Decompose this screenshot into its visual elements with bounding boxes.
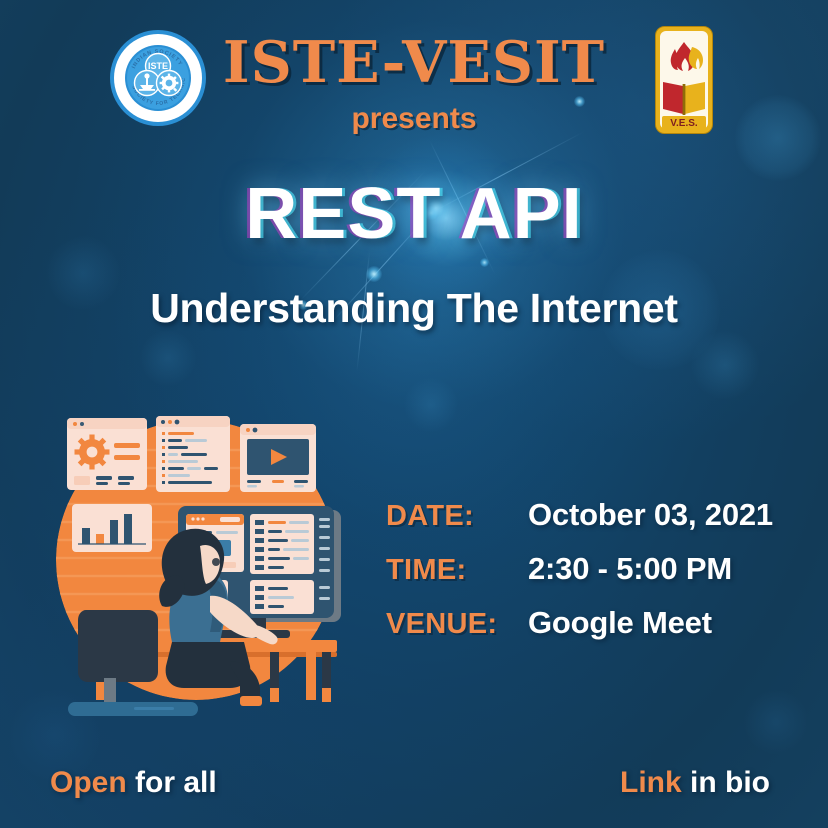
code-list-card — [156, 416, 230, 492]
hero-subtitle: Understanding The Internet — [0, 285, 828, 332]
bokeh-circle — [140, 330, 196, 386]
footer-open-highlight: Open — [50, 766, 127, 799]
network-node — [480, 258, 489, 267]
footer-link-in-bio: Link in bio — [620, 766, 770, 800]
footer-open-rest: for all — [127, 766, 217, 799]
detail-value-time: 2:30 - 5:00 PM — [528, 551, 773, 587]
footer-open-for-all: Open for all — [50, 766, 217, 800]
detail-value-venue: Google Meet — [528, 605, 773, 641]
bokeh-circle — [404, 378, 458, 432]
brand-title: ISTE-VESIT — [0, 34, 828, 91]
presents-label: presents — [0, 102, 828, 136]
network-node — [366, 266, 382, 282]
workspace-illustration — [44, 410, 374, 730]
detail-value-date: October 03, 2021 — [528, 497, 773, 533]
bokeh-circle — [744, 690, 808, 754]
bokeh-circle — [690, 330, 760, 400]
detail-label-venue: VENUE: — [386, 608, 516, 641]
bar-chart-card — [72, 504, 152, 552]
page-title: REST API — [245, 178, 582, 250]
event-poster: INDIAN SOCIETY SOCIETY FOR TECHNICAL IST… — [0, 0, 828, 828]
footer-link-rest: in bio — [682, 766, 770, 799]
event-details: DATE: October 03, 2021 TIME: 2:30 - 5:00… — [386, 497, 773, 641]
detail-label-date: DATE: — [386, 500, 516, 533]
video-player-card — [240, 424, 316, 492]
hero-title-wrap: REST API — [0, 178, 828, 250]
detail-label-time: TIME: — [386, 554, 516, 587]
settings-gear-card — [67, 418, 147, 490]
footer-link-highlight: Link — [620, 766, 682, 799]
